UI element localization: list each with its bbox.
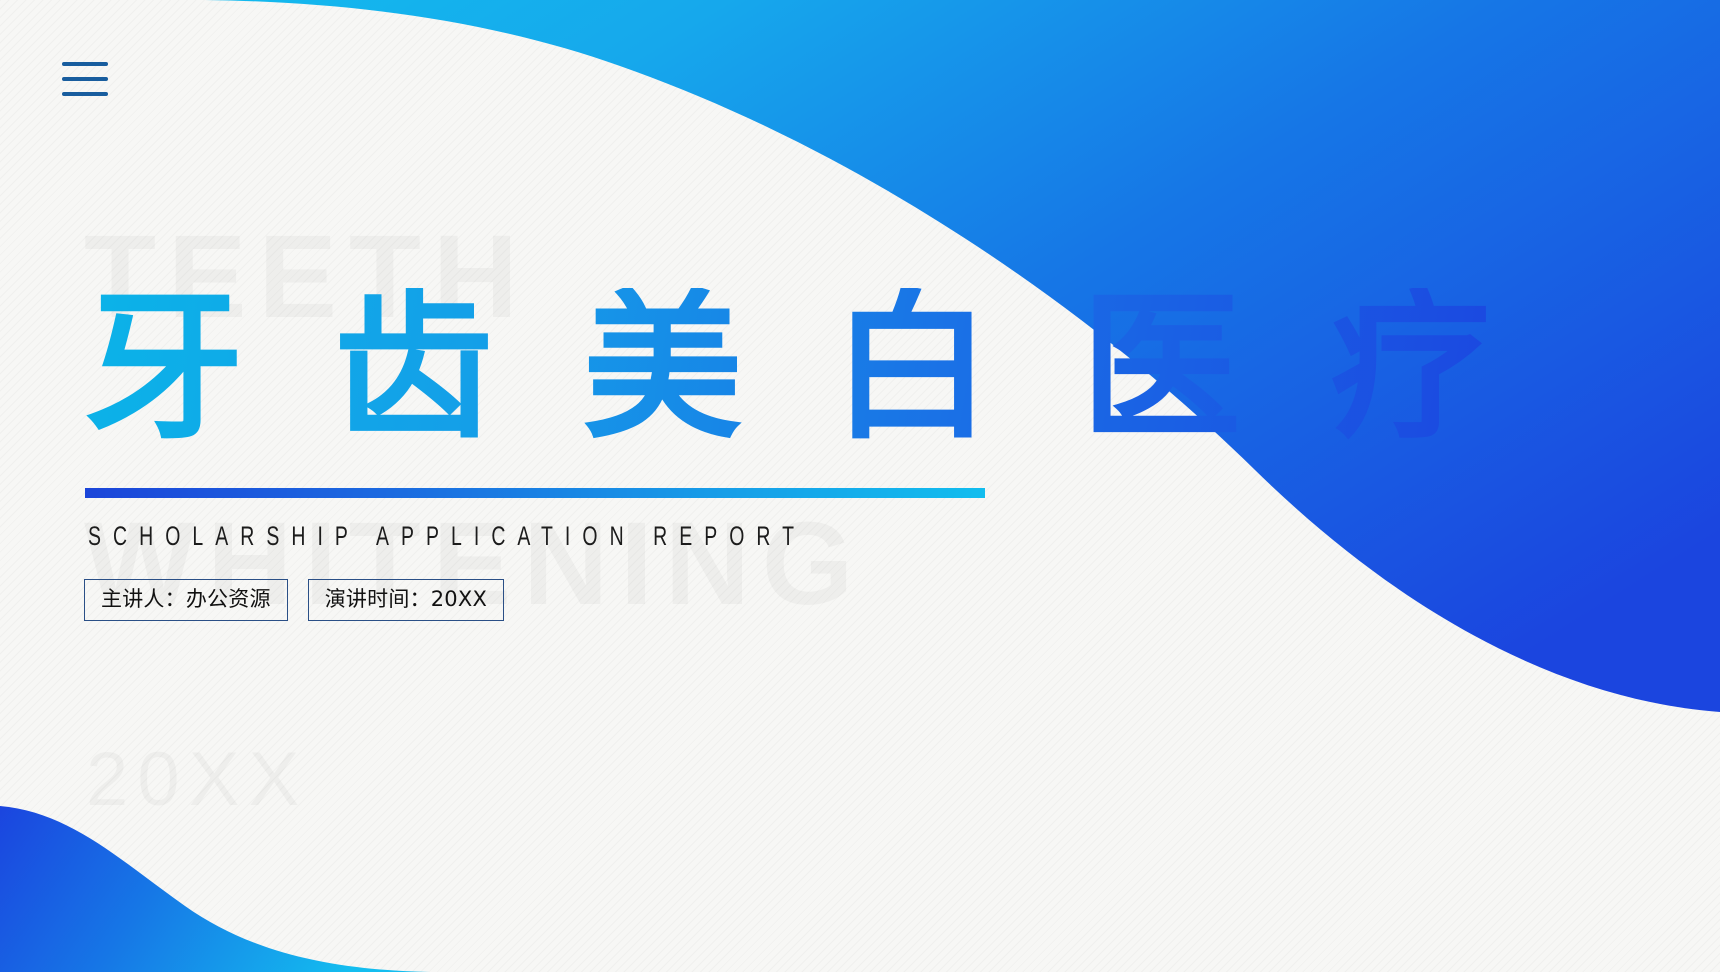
decorative-wave-layer: [0, 0, 1720, 972]
page-title: 牙 齿 美 白 医 疗: [84, 288, 1513, 448]
hamburger-bar-1: [62, 62, 108, 66]
hamburger-bar-2: [62, 77, 108, 81]
info-box-row: 主讲人：办公资源 演讲时间：20XX: [84, 579, 504, 621]
watermark-year: 20XX: [86, 742, 308, 818]
page-subtitle: SCHOLARSHIP APPLICATION REPORT: [88, 520, 806, 552]
title-gradient-divider: [85, 488, 985, 498]
hamburger-menu-button[interactable]: [62, 58, 108, 100]
date-info-box[interactable]: 演讲时间：20XX: [308, 579, 504, 621]
bottom-left-wave: [0, 806, 430, 972]
presenter-info-box[interactable]: 主讲人：办公资源: [84, 579, 288, 621]
presentation-title-slide: TEETH WHITENING 20XX 牙 齿 美 白 医 疗 SCHOLAR…: [0, 0, 1720, 972]
hamburger-bar-3: [62, 92, 108, 96]
